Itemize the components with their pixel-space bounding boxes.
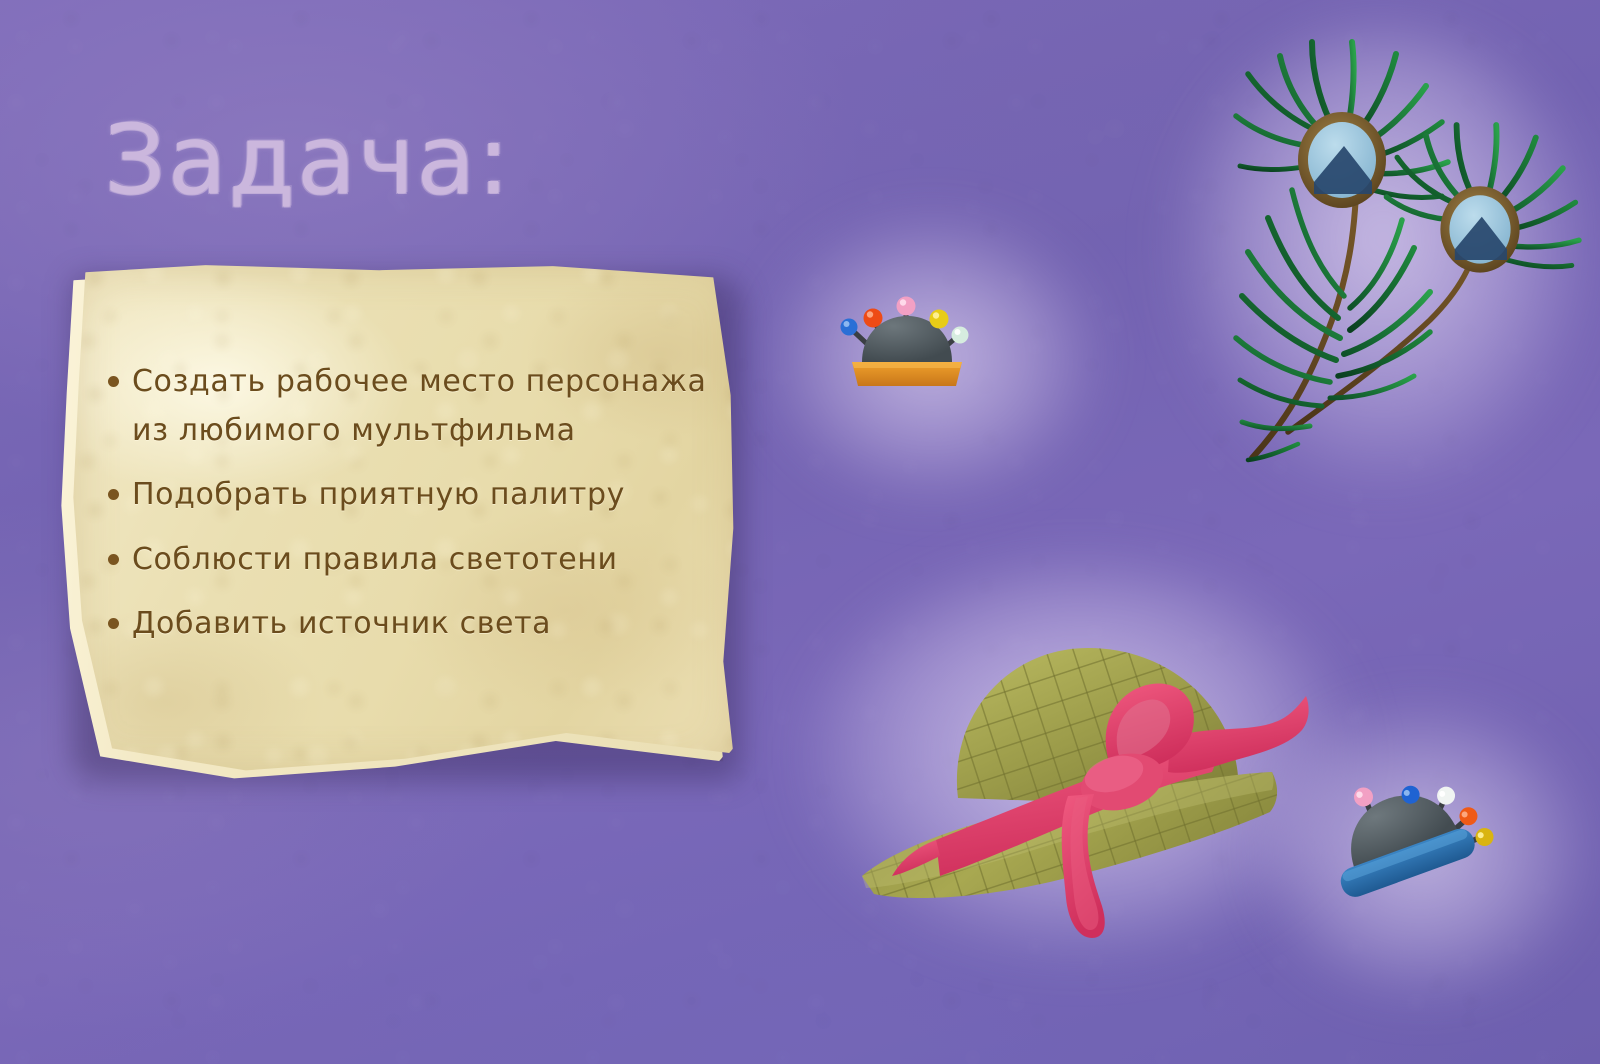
list-item-label: Соблюсти правила светотени — [132, 536, 708, 585]
list-item-label: Создать рабочее место персонажа из любим… — [132, 358, 708, 455]
list-item: Подобрать приятную палитру — [108, 471, 708, 520]
bullet-icon — [108, 554, 119, 565]
slide-canvas: Задача: Создать рабочее место персонажа … — [0, 0, 1600, 1064]
list-item: Добавить источник света — [108, 600, 708, 649]
list-item-label: Подобрать приятную палитру — [132, 471, 708, 520]
parchment-card: Создать рабочее место персонажа из любим… — [60, 262, 750, 792]
bullet-icon — [108, 489, 119, 500]
list-item-label: Добавить источник света — [132, 600, 708, 649]
list-item: Создать рабочее место персонажа из любим… — [108, 358, 708, 455]
bullet-icon — [108, 618, 119, 629]
page-title: Задача: — [104, 112, 511, 208]
bullet-icon — [108, 376, 119, 387]
list-item: Соблюсти правила светотени — [108, 536, 708, 585]
task-list: Создать рабочее место персонажа из любим… — [108, 358, 708, 665]
